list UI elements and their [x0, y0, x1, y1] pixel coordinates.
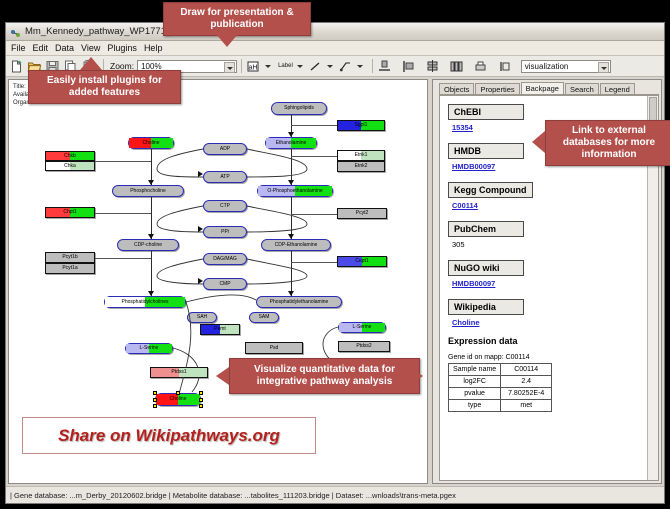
pathvisio-icon [10, 26, 21, 37]
gene-node-etnk1[interactable]: Etnk1 [337, 150, 385, 161]
edge-arrowhead [198, 226, 203, 232]
title-bar: Mm_Kennedy_pathway_WP1771_45176.gpml [6, 23, 664, 41]
node-label: L-Serine [353, 325, 372, 330]
callout-visualize: Visualize quantitative data for integrat… [229, 358, 420, 394]
metabolite-node-ethanolamine[interactable]: Ethanolamine [265, 137, 317, 149]
node-label: Ethanolamine [276, 141, 307, 146]
wikipedia-link[interactable]: Choline [452, 318, 646, 327]
callout-links: Link to external databases for more info… [545, 120, 670, 166]
node-label: SAH [197, 315, 207, 320]
kegg-link[interactable]: C00114 [452, 201, 646, 210]
gene-node-chpt1[interactable]: Chpt1 [45, 207, 95, 218]
node-label: Choline [143, 141, 160, 146]
align-left-icon[interactable] [401, 59, 416, 74]
node-label: Etnk2 [355, 164, 368, 169]
node-label: Ptdss2 [356, 344, 371, 349]
node-label: PPi [221, 230, 229, 235]
share-banner: Share on Wikipathways.org [22, 417, 316, 454]
chevron-down-icon[interactable] [224, 62, 235, 73]
section-header-chebi: ChEBI [448, 104, 524, 120]
node-label: Psd [270, 346, 279, 351]
node-label: L-Serine [140, 346, 159, 351]
node-label: Pcyt1a [62, 266, 77, 271]
status-bar: | Gene database: ...m_Derby_20120602.bri… [6, 486, 664, 503]
section-header-wikipedia: Wikipedia [448, 299, 524, 315]
menu-item-plugins[interactable]: Plugins [107, 43, 137, 53]
menu-item-edit[interactable]: Edit [33, 43, 49, 53]
node-label: Sgpl1 [355, 123, 368, 128]
pubchem-value: 305 [452, 240, 646, 249]
expression-table: Sample nameC00114 log2FC2.4 pvalue7.8025… [448, 363, 552, 412]
callout-plugins: Easily install plugins for added feature… [28, 70, 181, 104]
node-label: Pcyt1b [62, 255, 77, 260]
node-label: DAG/MAG [213, 257, 237, 262]
node-label: Pcyt2 [356, 211, 369, 216]
text-tool-chevron-icon[interactable] [264, 59, 273, 73]
selection-handle[interactable] [199, 404, 203, 408]
node-label: Choline [170, 397, 187, 402]
status-text: | Gene database: ...m_Derby_20120602.bri… [10, 491, 456, 500]
node-label: Ptdss1 [171, 370, 186, 375]
label-tool-chevron-icon[interactable] [296, 59, 305, 73]
gene-id-line: Gene id on mapp: C00114 [448, 354, 646, 361]
toolbar-separator-3 [372, 59, 373, 73]
node-label: CDP-choline [134, 243, 162, 248]
cell-label: Sample name [449, 364, 501, 376]
selection-handle[interactable] [153, 398, 157, 402]
cell-label: type [449, 400, 501, 412]
print-icon[interactable] [473, 59, 488, 74]
interaction-tool-chevron-icon[interactable] [356, 59, 365, 73]
selection-handle[interactable] [176, 391, 180, 395]
node-label: Phosphocholine [130, 189, 166, 194]
node-label: Chpt1 [63, 210, 76, 215]
node-label: O-Phosphoethanolamine [267, 189, 322, 194]
metabolite-node-phosphatidylcholines[interactable]: Phosphatidylcholines [104, 296, 186, 308]
callout-draw-arrow-icon [216, 34, 238, 47]
node-label: Phosphatidylethanolamine [270, 300, 329, 305]
node-label: CDP-Ethanolamine [275, 243, 318, 248]
menu-bar: File Edit Data View Plugins Help [6, 41, 664, 56]
node-label: Sphingolipids [284, 106, 314, 111]
metabolite-node-o-phosphoethanolamine[interactable]: O-Phosphoethanolamine [257, 185, 333, 197]
callout-visualize-arrow-icon [216, 367, 229, 385]
cell-value: C00114 [501, 364, 552, 376]
node-label: SAM [259, 315, 270, 320]
selection-handle[interactable] [199, 398, 203, 402]
node-label: Etnk1 [355, 153, 368, 158]
gene-node-chka[interactable]: Chka [45, 161, 95, 171]
node-label: Cept1 [355, 259, 368, 264]
cell-value: 7.80252E-4 [501, 388, 552, 400]
gene-node-chkb[interactable]: Chkb [45, 151, 95, 161]
node-label: Chkb [64, 154, 76, 159]
metabolite-node-l-serine[interactable]: L-Serine [338, 322, 386, 333]
node-label: Pemt [214, 327, 226, 332]
visualization-chevron-down-icon[interactable] [598, 62, 609, 73]
gene-node-ptdss1[interactable]: Ptdss1 [150, 367, 208, 378]
table-row: typemet [449, 400, 552, 412]
table-row: log2FC2.4 [449, 376, 552, 388]
app-root: Mm_Kennedy_pathway_WP1771_45176.gpml Fil… [0, 0, 670, 509]
label-tool-label: Label [278, 63, 293, 69]
menu-item-help[interactable]: Help [144, 43, 163, 53]
gene-node-cept1[interactable]: Cept1 [337, 256, 387, 267]
selection-handle[interactable] [153, 404, 157, 408]
align-bottom-icon[interactable] [377, 59, 392, 74]
callout-plugins-arrow-icon [80, 57, 102, 70]
node-label: CMP [219, 282, 230, 287]
callout-links-arrow-icon [532, 131, 545, 153]
node-label: ADP [220, 147, 230, 152]
table-row: pvalue7.80252E-4 [449, 388, 552, 400]
cell-value: met [501, 400, 552, 412]
menu-item-view[interactable]: View [81, 43, 100, 53]
edge-arrowhead [198, 171, 203, 177]
section-header-hmdb: HMDB [448, 143, 524, 159]
selection-handle[interactable] [199, 391, 203, 395]
gene-node-pemt[interactable]: Pemt [200, 324, 240, 335]
group-icon[interactable] [497, 59, 512, 74]
node-label: ATP [220, 175, 229, 180]
callout-visualize-arrow-right-icon [410, 367, 423, 385]
svg-text:aH: aH [249, 64, 258, 71]
stack-vertical-icon[interactable] [425, 59, 440, 74]
section-header-kegg: Kegg Compound [448, 182, 533, 198]
cell-label: pvalue [449, 388, 501, 400]
node-label: Chka [64, 164, 76, 169]
cell-value: 2.4 [501, 376, 552, 388]
visualization-value: visualization [525, 62, 569, 71]
visualization-combo[interactable]: visualization [521, 60, 611, 73]
edge-arrowhead [198, 278, 203, 284]
share-banner-text: Share on Wikipathways.org [58, 426, 280, 446]
menu-item-file[interactable]: File [11, 43, 26, 53]
text-tool-icon[interactable]: aH [246, 59, 261, 74]
gene-node-sgpl1[interactable]: Sgpl1 [337, 120, 385, 131]
interaction-tool-icon[interactable] [338, 59, 353, 74]
section-header-nugo: NuGO wiki [448, 260, 524, 276]
toolbar-separator-2 [241, 59, 242, 73]
node-label: Phosphatidylcholines [122, 300, 169, 305]
callout-draw: Draw for presentation & publication [163, 2, 311, 36]
table-row: Sample nameC00114 [449, 364, 552, 376]
section-header-pubchem: PubChem [448, 221, 524, 237]
selection-handle[interactable] [153, 391, 157, 395]
line-tool-icon[interactable] [308, 59, 323, 74]
metabolite-node-l-serine[interactable]: L-Serine [125, 343, 173, 354]
node-label: CTP [220, 204, 230, 209]
metabolite-node-choline[interactable]: Choline [128, 137, 174, 149]
line-tool-chevron-icon[interactable] [326, 59, 335, 73]
nugo-link[interactable]: HMDB00097 [452, 279, 646, 288]
expression-data-heading: Expression data [448, 336, 646, 346]
menu-item-data[interactable]: Data [55, 43, 74, 53]
cell-label: log2FC [449, 376, 501, 388]
new-file-icon[interactable] [9, 59, 24, 74]
distribute-icon[interactable] [449, 59, 464, 74]
